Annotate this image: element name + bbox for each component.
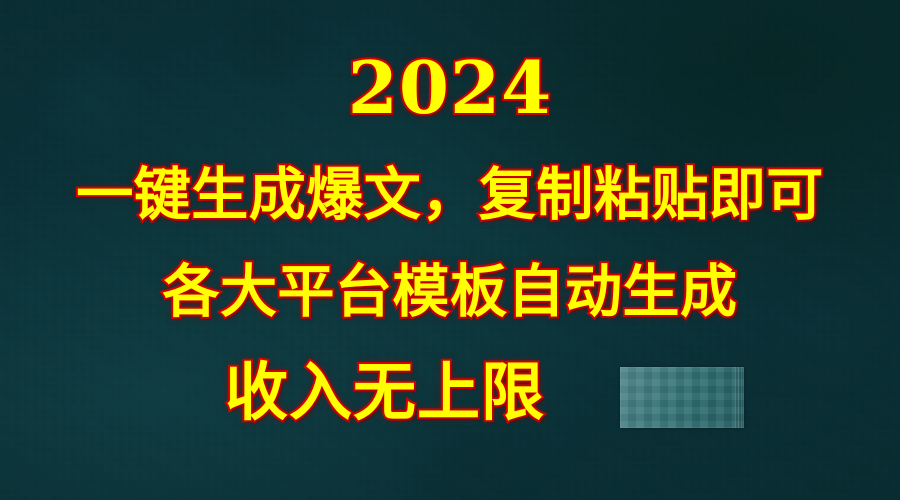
headline-text-group: 2024 一键生成爆文，复制粘贴即可 各大平台模板自动生成 收入无上限: [0, 0, 900, 500]
mosaic-censor-block: [620, 367, 744, 428]
headline-year: 2024: [0, 52, 900, 124]
promo-poster: 2024 一键生成爆文，复制粘贴即可 各大平台模板自动生成 收入无上限: [0, 0, 900, 500]
mosaic-edge-streak: [735, 367, 742, 428]
headline-line-2: 一键生成爆文，复制粘贴即可: [0, 167, 900, 224]
headline-line-4: 收入无上限: [0, 361, 900, 424]
headline-line-3: 各大平台模板自动生成: [0, 264, 900, 321]
